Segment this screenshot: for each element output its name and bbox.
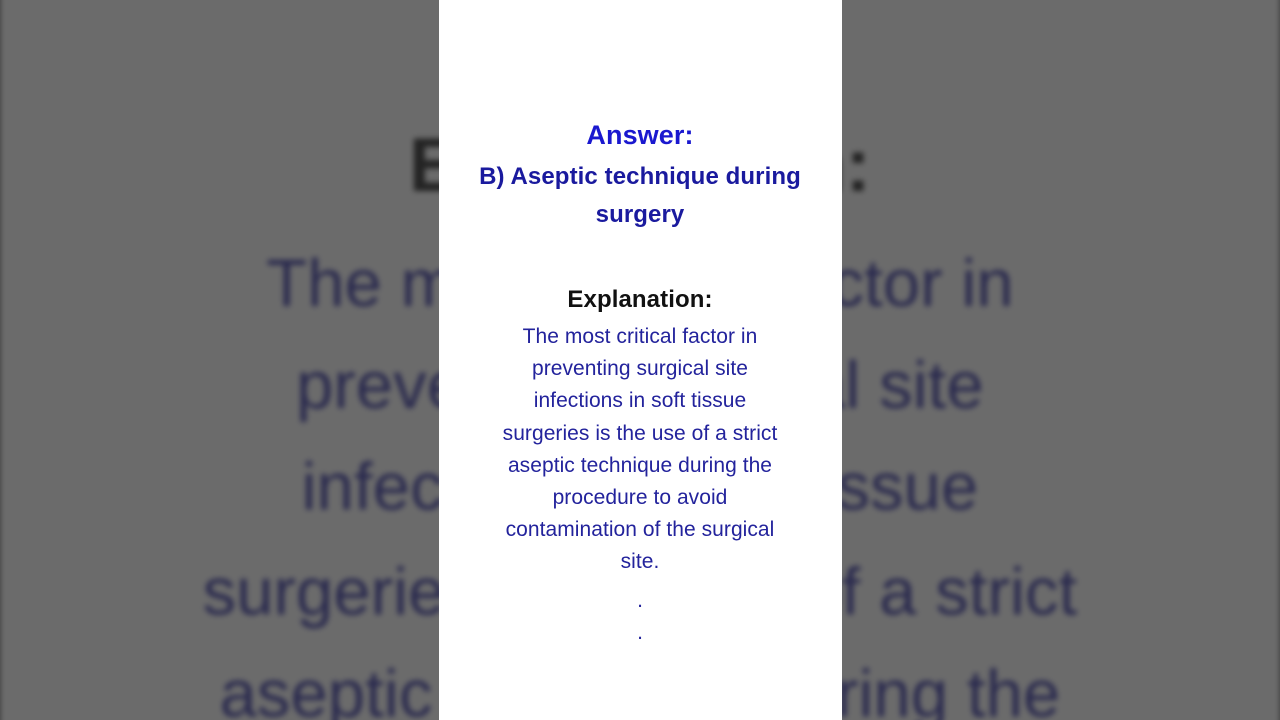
trailing-mark-2: . bbox=[445, 617, 835, 649]
video-frame: Answer: B) Aseptic technique during surg… bbox=[0, 0, 1280, 720]
answer-text: B) Aseptic technique during surgery bbox=[445, 152, 835, 234]
explanation-label: Explanation: bbox=[445, 234, 835, 315]
trailing-mark-1: . bbox=[445, 579, 835, 617]
answer-card: Answer: B) Aseptic technique during surg… bbox=[439, 0, 842, 720]
card-content: Answer: B) Aseptic technique during surg… bbox=[439, 0, 841, 720]
answer-label: Answer: bbox=[445, 0, 835, 152]
explanation-body: The most critical factor in preventing s… bbox=[445, 315, 835, 579]
